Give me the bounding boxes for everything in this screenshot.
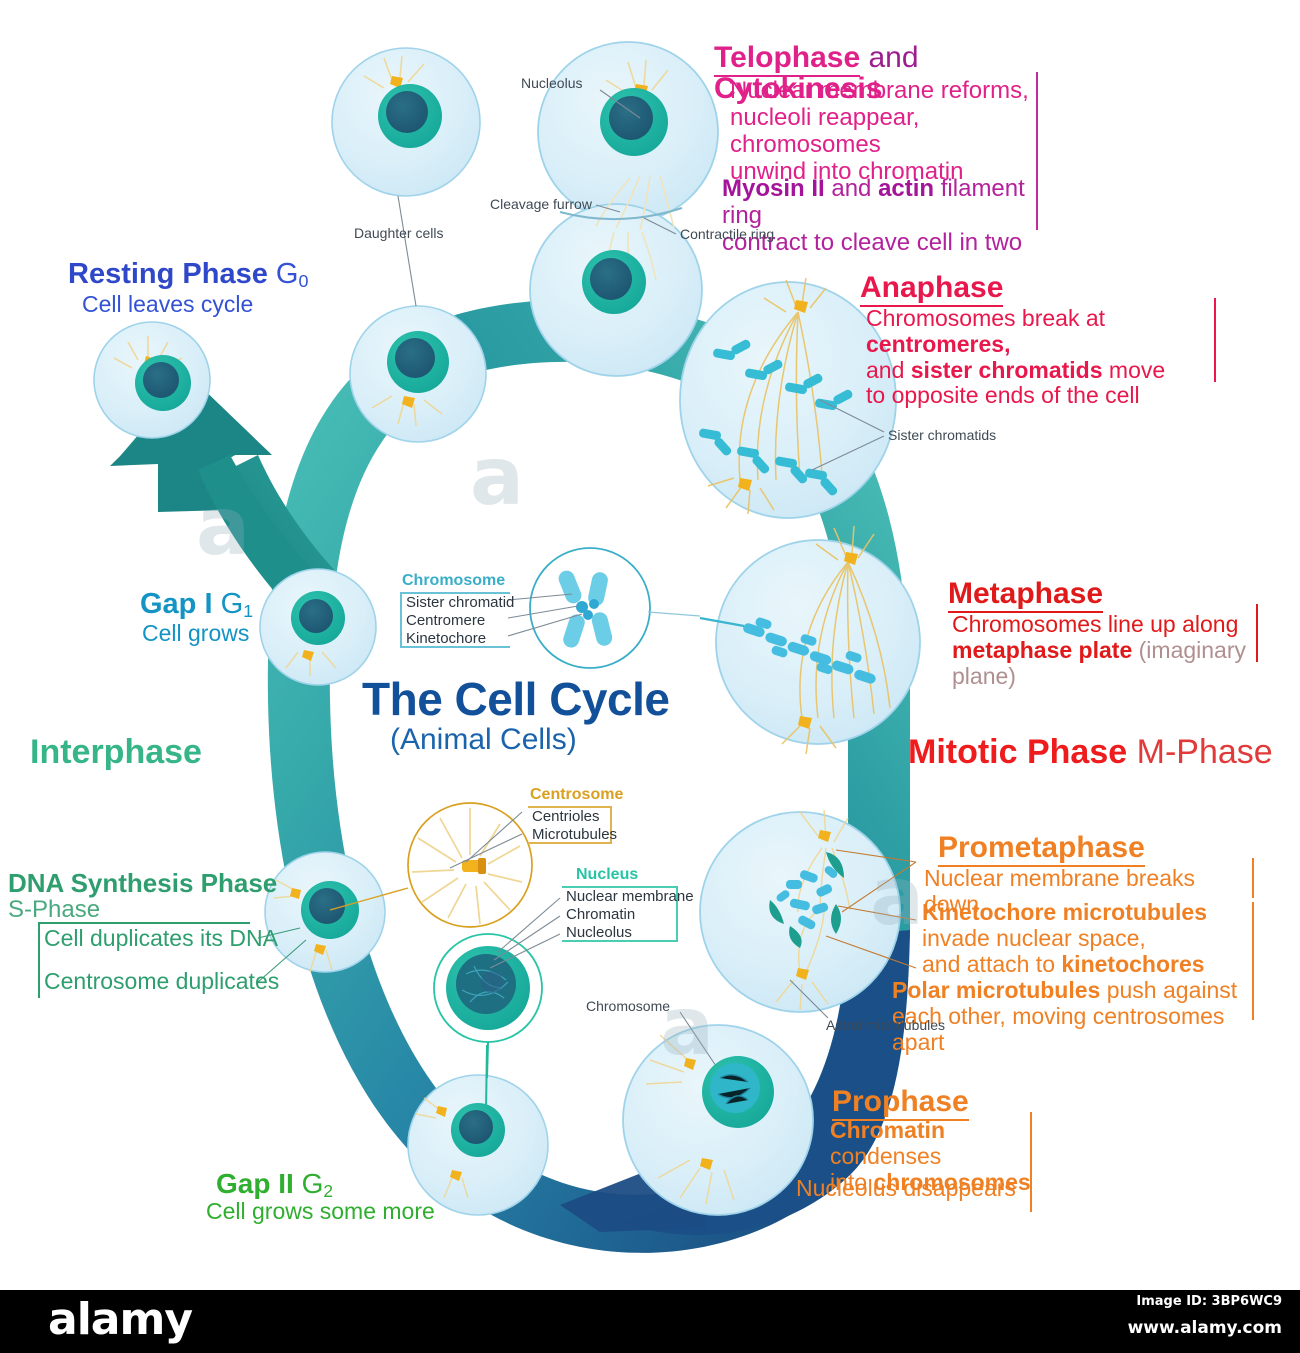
- cell-prophase: [623, 1025, 813, 1215]
- metaphase-heading: Metaphase: [948, 578, 1103, 609]
- legend-chromosome-item: Kinetochore: [406, 630, 486, 649]
- legend-chromosome-rule-left: [400, 592, 402, 648]
- cell-prometaphase: [700, 810, 900, 1012]
- legend-centrosome-item: Microtubules: [532, 826, 617, 845]
- legend-centrosome-item: Centrioles: [532, 808, 600, 827]
- interphase-label: Interphase: [30, 733, 202, 772]
- centrosome-magnifier: [330, 803, 532, 927]
- legend-nucleus-item: Nuclear membrane: [566, 888, 694, 907]
- watermark-letter: a: [660, 980, 714, 1073]
- metaphase-bracket: [1256, 604, 1258, 662]
- legend-nucleus-title: Nucleus: [576, 866, 638, 884]
- cell-resting-g0: [94, 322, 210, 438]
- sphase-bracket-h: [38, 922, 250, 924]
- gap2-heading: Gap II G2: [216, 1168, 333, 1202]
- resting-phase-body: Cell leaves cycle: [82, 291, 253, 318]
- cycle-ring: [268, 300, 910, 1253]
- prophase-line3: Nucleolus disappears: [796, 1176, 1056, 1202]
- cell-daughter: [332, 48, 480, 196]
- chromosome-magnifier: [530, 548, 700, 668]
- legend-nucleus-item: Chromatin: [566, 906, 635, 925]
- anaphase-bracket: [1214, 298, 1216, 382]
- gap1-heading: Gap I G1: [140, 588, 253, 622]
- anaphase-body: Chromosomes break at centromeres, and si…: [866, 306, 1216, 409]
- legend-nucleus: Nucleus: [576, 866, 638, 884]
- watermark-letter: a: [870, 850, 924, 943]
- prophase-heading: Prophase: [832, 1086, 969, 1117]
- resting-phase-heading: Resting Phase G0: [68, 258, 308, 292]
- prometaphase-leaders: [826, 850, 916, 968]
- cell-metaphase: [700, 526, 920, 754]
- legend-chromosome: Chromosome: [402, 572, 514, 590]
- gap2-body: Cell grows some more: [206, 1198, 435, 1225]
- metaphase-body: Chromosomes line up along metaphase plat…: [952, 612, 1262, 689]
- cell-anaphase: [680, 278, 896, 518]
- telophase-body: Nuclear membrane reforms, nucleoli reapp…: [730, 78, 1030, 186]
- gap1-body: Cell grows: [142, 620, 249, 647]
- watermark-letter: a: [470, 430, 524, 523]
- sphase-line2: Centrosome duplicates: [44, 968, 279, 995]
- legend-leaders: [450, 594, 582, 968]
- sphase-heading: DNA Synthesis Phase: [8, 868, 277, 899]
- telophase-bracket: [1036, 72, 1038, 230]
- callout-chromosome: Chromosome: [586, 998, 670, 1014]
- cell-s-phase: [265, 852, 385, 972]
- nucleus-magnifier: [434, 934, 542, 1078]
- sphase-subheading: S-Phase: [8, 896, 100, 924]
- legend-centrosome-title: Centrosome: [530, 786, 623, 804]
- page-title: The Cell Cycle: [362, 672, 669, 726]
- alamy-footer-bar: alamy Image ID: 3BP6WC9 www.alamy.com: [0, 1290, 1300, 1353]
- sphase-line1: Cell duplicates its DNA: [44, 925, 278, 952]
- callout-cleavage-furrow: Cleavage furrow: [490, 196, 592, 212]
- mitotic-phase-label: Mitotic Phase M-Phase: [908, 733, 1273, 772]
- cytokinesis-body: Myosin II and actin filament ring contra…: [722, 176, 1032, 257]
- cell-gap2: [408, 1045, 548, 1215]
- legend-chromosome-title: Chromosome: [402, 572, 514, 590]
- alamy-website-label: www.alamy.com: [1128, 1318, 1282, 1338]
- callout-daughter-cells: Daughter cells: [354, 225, 444, 241]
- prometaphase-line2: Kinetochore microtubules invade nuclear …: [922, 900, 1262, 977]
- prometaphase-heading: Prometaphase: [938, 832, 1145, 863]
- image-id-label: Image ID: 3BP6WC9: [1136, 1294, 1282, 1309]
- cell-daughter-2: [350, 306, 486, 442]
- g0-exit-arrow: [110, 382, 336, 620]
- callout-nucleolus: Nucleolus: [521, 75, 582, 91]
- watermark-letter: a: [196, 480, 250, 573]
- prometaphase-bracket-2: [1252, 902, 1254, 1020]
- prophase-bracket: [1030, 1112, 1032, 1212]
- legend-nucleus-item: Nucleolus: [566, 924, 632, 943]
- anaphase-heading: Anaphase: [860, 272, 1003, 303]
- cell-cycle-diagram: a a a a Telophase and Cytokinesis Nuclea…: [0, 0, 1300, 1290]
- cell-gap1: [260, 569, 376, 685]
- legend-chromosome-item: Centromere: [406, 612, 485, 631]
- page-subtitle: (Animal Cells): [390, 723, 577, 757]
- callout-astral-microtubules: Astral microtubules: [826, 1017, 945, 1033]
- prometaphase-line3: Polar microtubules push against each oth…: [892, 978, 1262, 1055]
- legend-centrosome: Centrosome: [530, 786, 623, 804]
- alamy-logo: alamy: [48, 1294, 192, 1345]
- callout-sister-chromatids: Sister chromatids: [888, 427, 996, 443]
- callout-contractile-ring: Contractile ring: [680, 226, 774, 242]
- legend-chromosome-item: Sister chromatid: [406, 594, 514, 613]
- sphase-bracket-v: [38, 922, 40, 998]
- prometaphase-bracket-1: [1252, 858, 1254, 898]
